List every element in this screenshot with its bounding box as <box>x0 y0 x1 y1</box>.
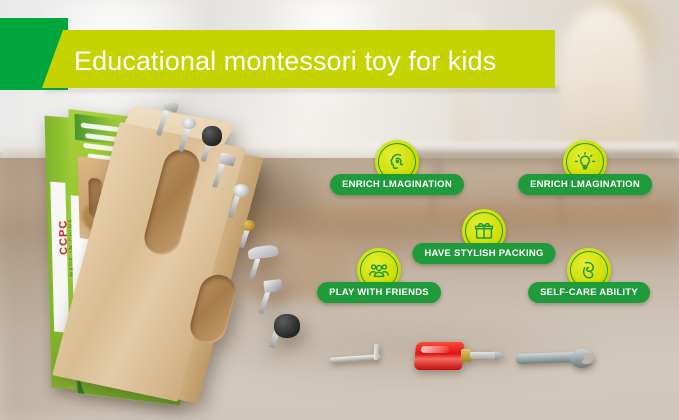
feature-badge-label: SELF-CARE ABILITY <box>528 282 650 303</box>
wooden-toy-board <box>116 104 340 396</box>
page-title: Educational montessori toy for kids <box>74 43 544 79</box>
product-marketing-banner: Educational montessori toy for kids CCPC… <box>0 0 679 420</box>
feature-badge-label: ENRICH LMAGINATION <box>518 174 652 195</box>
banner-drop-shadow <box>46 88 559 93</box>
wrench-handle <box>516 352 578 364</box>
tool-wrench <box>516 348 596 370</box>
feature-badge-label: ENRICH LMAGINATION <box>330 174 464 195</box>
screwdriver-highlight <box>421 346 449 353</box>
tool-allen-key <box>330 344 382 370</box>
feature-badge-label: HAVE STYLISH PACKING <box>412 243 555 264</box>
allen-key-long-arm <box>330 354 380 362</box>
tool-screwdriver <box>415 338 505 374</box>
feature-badge-label: PLAY WITH FRIENDS <box>317 282 441 303</box>
background-vase <box>560 6 644 156</box>
